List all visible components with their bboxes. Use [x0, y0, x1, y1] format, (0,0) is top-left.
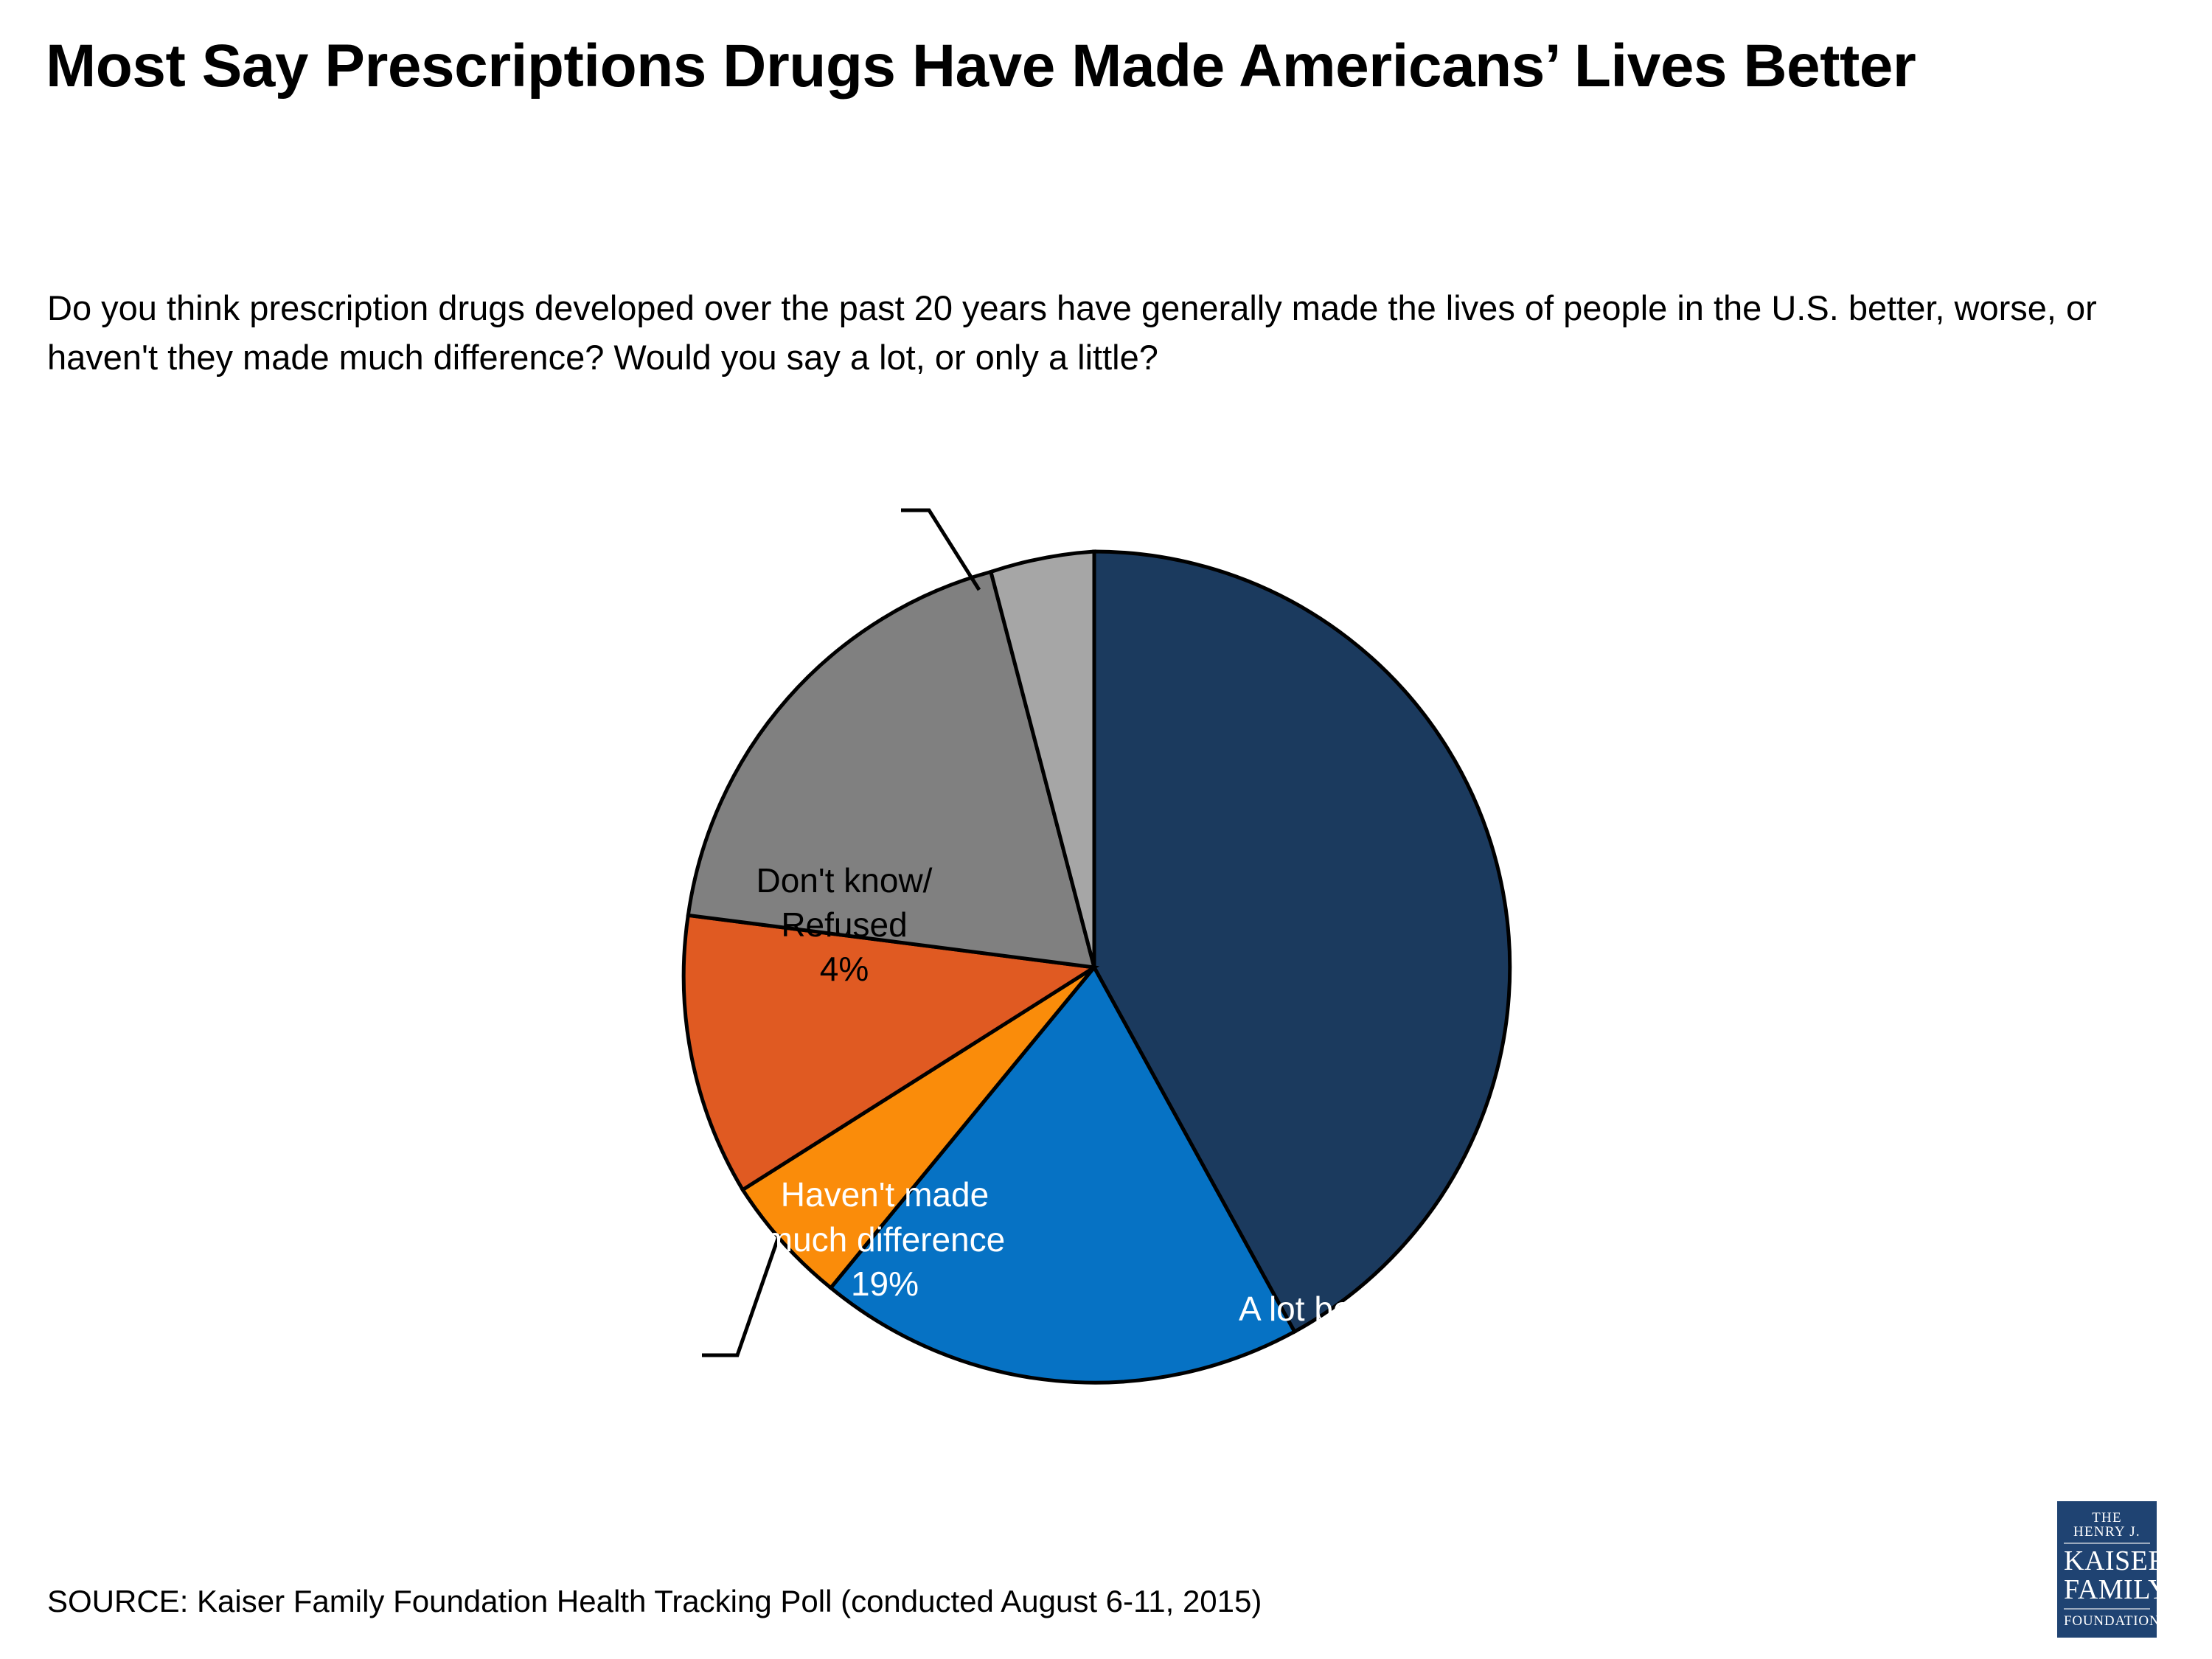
pie-label-a-little-better-name: A little better: [951, 1652, 1261, 1659]
logo-line-the-henry-j: THE HENRY J.: [2064, 1511, 2150, 1544]
pie-label-dont-know-value: 4%: [719, 947, 970, 992]
pie-label-no-difference: Haven't made much difference 19%: [708, 1172, 1062, 1307]
pie-label-dont-know: Don't know/ Refused 4%: [719, 859, 970, 991]
pie-label-a-little-better: A little better 19%: [951, 1652, 1261, 1659]
page-title: Most Say Prescriptions Drugs Have Made A…: [46, 31, 2051, 101]
pie-label-a-lot-better-value: 42%: [1165, 1332, 1475, 1377]
logo-line-kaiser: KAISER: [2064, 1544, 2150, 1576]
pie-chart-svg: [0, 413, 2212, 1460]
pie-label-no-difference-line1: Haven't made: [708, 1172, 1062, 1217]
pie-label-dont-know-line1: Don't know/: [719, 859, 970, 903]
pie-label-no-difference-line2: much difference: [708, 1217, 1062, 1262]
source-note: SOURCE: Kaiser Family Foundation Health …: [47, 1584, 1262, 1619]
pie-label-dont-know-line2: Refused: [719, 903, 970, 947]
pie-label-a-lot-worse-name: A lot worse: [686, 1390, 981, 1435]
pie-label-a-lot-worse: A lot worse 11%: [686, 1390, 981, 1479]
pie-label-a-lot-worse-value: 11%: [686, 1435, 981, 1480]
slide-canvas: Most Say Prescriptions Drugs Have Made A…: [0, 0, 2212, 1659]
kaiser-family-foundation-logo: THE HENRY J. KAISER FAMILY FOUNDATION: [2057, 1501, 2157, 1638]
pie-label-no-difference-value: 19%: [708, 1262, 1062, 1307]
page-subtitle: Do you think prescription drugs develope…: [47, 284, 2126, 382]
pie-label-a-lot-better-name: A lot better: [1165, 1287, 1475, 1332]
pie-chart: Don't know/ Refused 4% A little worse 5%…: [0, 413, 2212, 1460]
logo-line-foundation: FOUNDATION: [2064, 1610, 2150, 1628]
logo-line-family: FAMILY: [2064, 1576, 2150, 1610]
pie-label-a-lot-better: A lot better 42%: [1165, 1287, 1475, 1376]
